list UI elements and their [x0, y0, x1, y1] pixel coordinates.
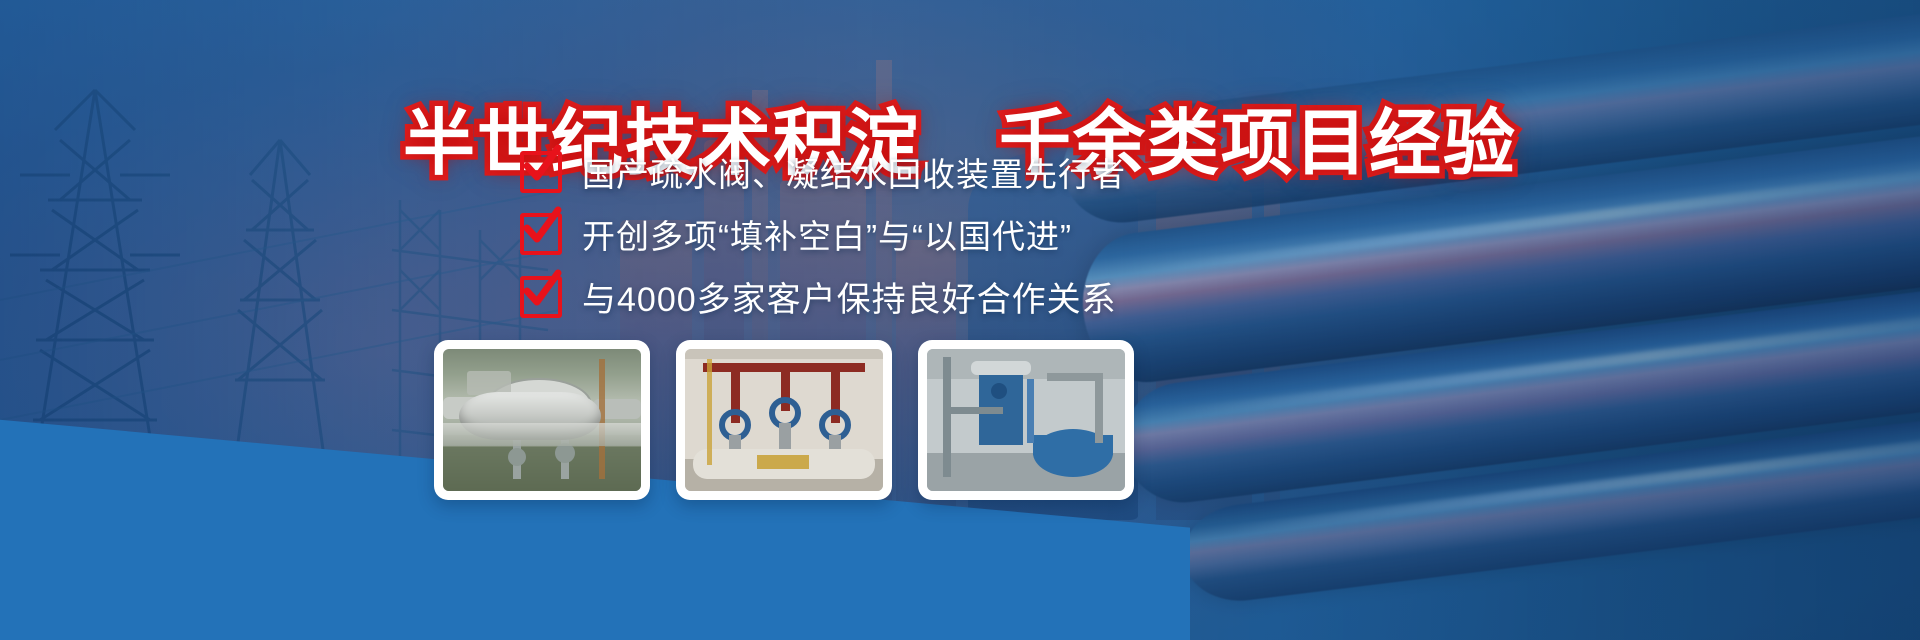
photo-blue-condensate-tank [927, 349, 1125, 491]
bullet-label: 国产疏水阀、凝结水回收装置先行者 [582, 148, 1126, 196]
feature-bullet-list: 国产疏水阀、凝结水回收装置先行者 开创多项“填补空白”与“以国代进” 与4000… [520, 148, 1126, 321]
list-item: 国产疏水阀、凝结水回收装置先行者 [520, 148, 1126, 196]
photo-steam-trap-vessel [443, 349, 641, 491]
bullet-label: 与4000多家客户保持良好合作关系 [582, 272, 1117, 321]
photo-card[interactable] [918, 340, 1134, 500]
bullet-label: 开创多项“填补空白”与“以国代进” [582, 210, 1072, 258]
product-photo-strip [434, 340, 1134, 500]
red-checkbox-icon [520, 213, 562, 255]
promo-banner: 半世纪技术积淀 千余类项目经验 国产疏水阀、凝结水回收装置先行者 开创多项“填补… [0, 0, 1920, 640]
list-item: 开创多项“填补空白”与“以国代进” [520, 210, 1126, 258]
photo-card[interactable] [434, 340, 650, 500]
photo-red-piping-valves [685, 349, 883, 491]
list-item: 与4000多家客户保持良好合作关系 [520, 272, 1126, 321]
red-checkbox-icon [520, 151, 562, 193]
red-checkbox-icon [520, 276, 562, 318]
photo-card[interactable] [676, 340, 892, 500]
